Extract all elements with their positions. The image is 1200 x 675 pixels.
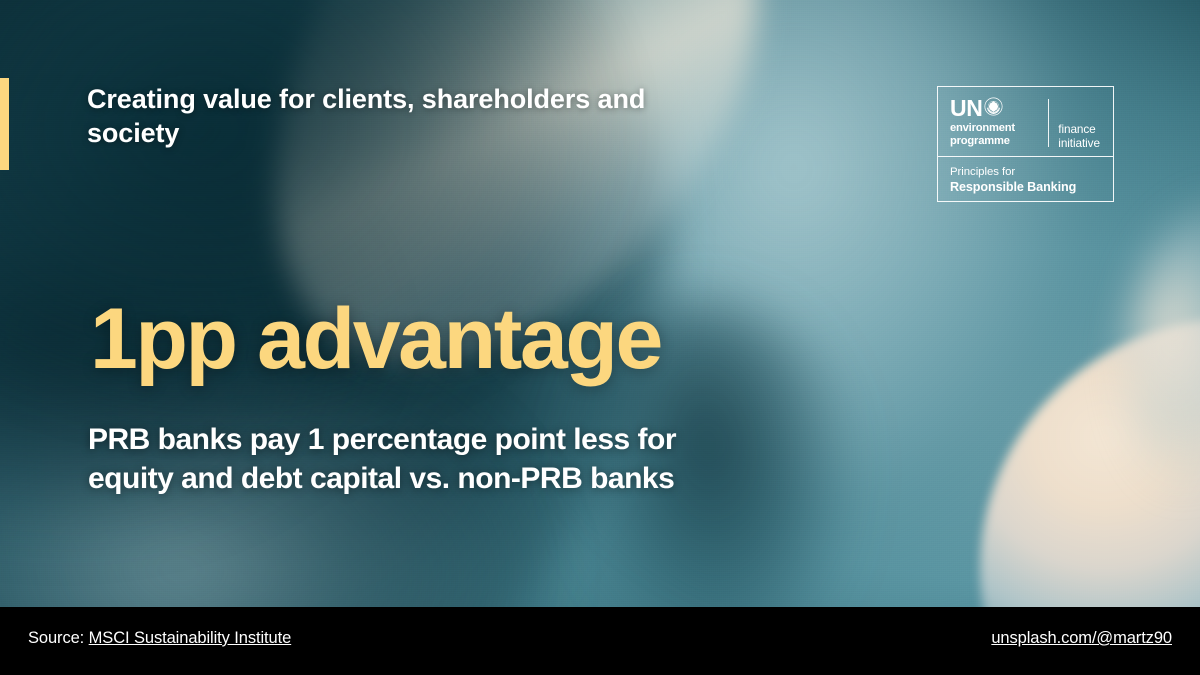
source-label: Source: [28,629,84,647]
logo-fi-line-1: finance [1058,123,1100,137]
footer-bar: Source: MSCI Sustainability Institute un… [0,607,1200,675]
logo-fi-line-2: initiative [1058,137,1100,151]
image-credit-link[interactable]: unsplash.com/@martz90 [991,629,1172,648]
headline-subtext: PRB banks pay 1 percentage point less fo… [88,420,768,498]
logo-prb-line-1: Principles for [950,166,1113,180]
content-layer: Creating value for clients, shareholders… [0,0,1200,675]
source-link[interactable]: MSCI Sustainability Institute [89,629,292,647]
logo-unep-block: UN e [950,97,1045,148]
source-attribution: Source: MSCI Sustainability Institute [28,629,291,648]
unep-fi-prb-logo: UN e [937,86,1114,202]
logo-unep-line-2: programme [950,135,1045,148]
logo-finance-initiative-block: finance initiative [1058,123,1100,151]
headline-stat: 1pp advantage [90,296,661,382]
page-title: Creating value for clients, shareholders… [87,82,727,151]
un-emblem-icon [984,97,1003,121]
logo-un-wordmark: UN [950,97,982,120]
logo-upper-section: UN e [938,87,1113,157]
logo-unep-line-1: environment [950,122,1045,135]
logo-un-row: UN [950,97,1045,120]
logo-prb-line-2: Responsible Banking [950,180,1113,195]
infographic-card: Creating value for clients, shareholders… [0,0,1200,675]
yellow-accent-bar [0,78,9,170]
logo-lower-section: Principles for Responsible Banking [938,157,1113,195]
logo-vertical-divider [1048,99,1049,147]
